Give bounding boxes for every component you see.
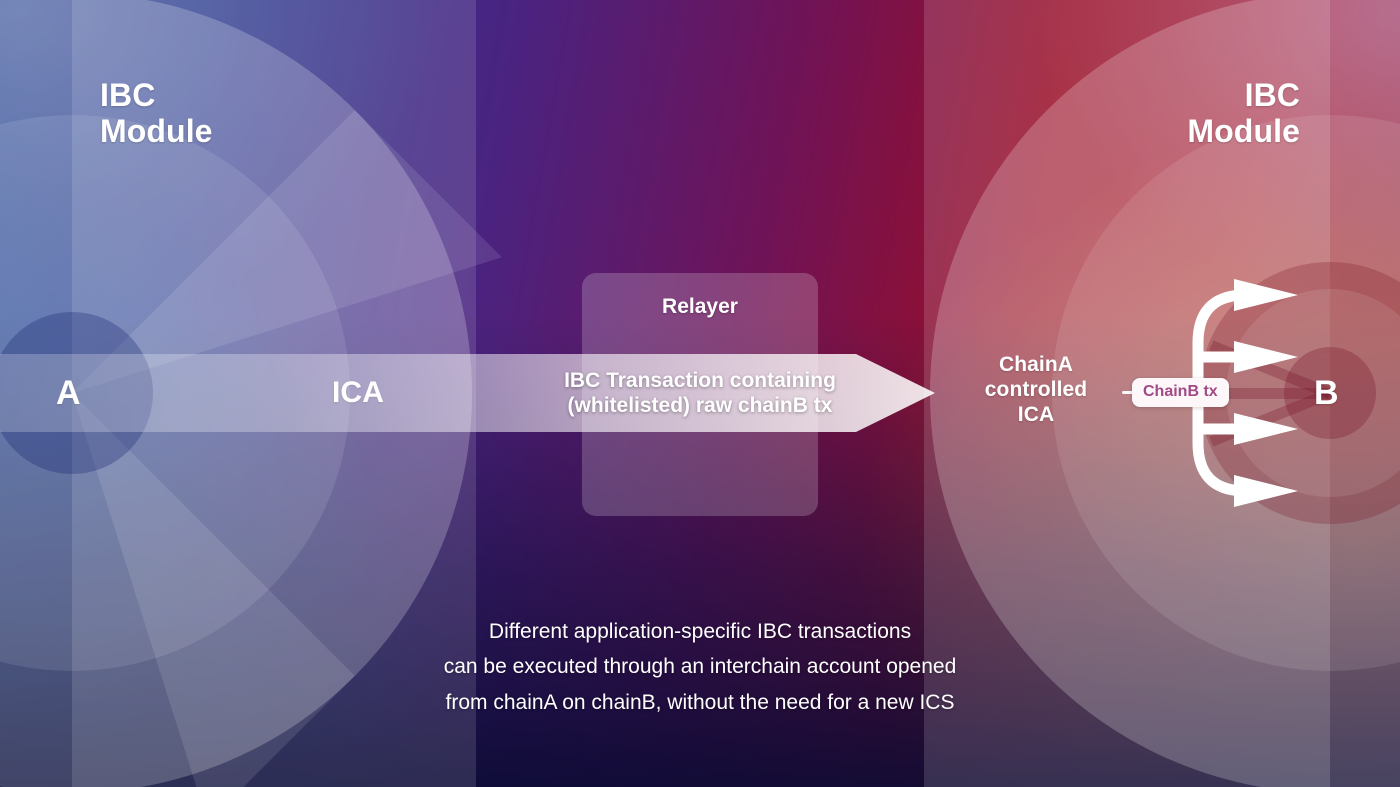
right-ica-label-line3: ICA [960,402,1112,427]
right-ica-label-line2: controlled [960,377,1112,402]
right-ibc-module-label: IBC Module [1170,78,1300,150]
left-ibc-module-label: IBC Module [100,78,213,150]
diagram-caption: Different application-specific IBC trans… [300,614,1100,720]
ibc-transaction-arrow-label: IBC Transaction containing (whitelisted)… [470,368,930,418]
diagram-caption-line2: can be executed through an interchain ac… [300,649,1100,684]
left-ibc-module-label-line1: IBC [100,78,213,114]
right-ica-label: ChainA controlled ICA [960,352,1112,428]
branch-arrowhead-lower-mid [1234,413,1298,445]
ibc-transaction-arrow-line1: IBC Transaction containing [470,368,930,393]
branch-arrowhead-top [1234,279,1298,311]
diagram-canvas: IBC Module A ICA IBC Module B ChainA con… [0,0,1400,787]
right-ibc-module-label-line2: Module [1170,114,1300,150]
diagram-caption-line3: from chainA on chainB, without the need … [300,685,1100,720]
right-ibc-module-label-line1: IBC [1170,78,1300,114]
right-ica-label-line1: ChainA [960,352,1112,377]
branch-arrowhead-upper-mid [1234,341,1298,373]
relayer-title: Relayer [582,295,818,319]
branch-arrowhead-bottom [1234,475,1298,507]
diagram-caption-line1: Different application-specific IBC trans… [300,614,1100,649]
left-ibc-module-label-line2: Module [100,114,213,150]
chainb-tx-badge[interactable]: ChainB tx [1132,378,1229,407]
ibc-transaction-arrow-line2: (whitelisted) raw chainB tx [470,393,930,418]
